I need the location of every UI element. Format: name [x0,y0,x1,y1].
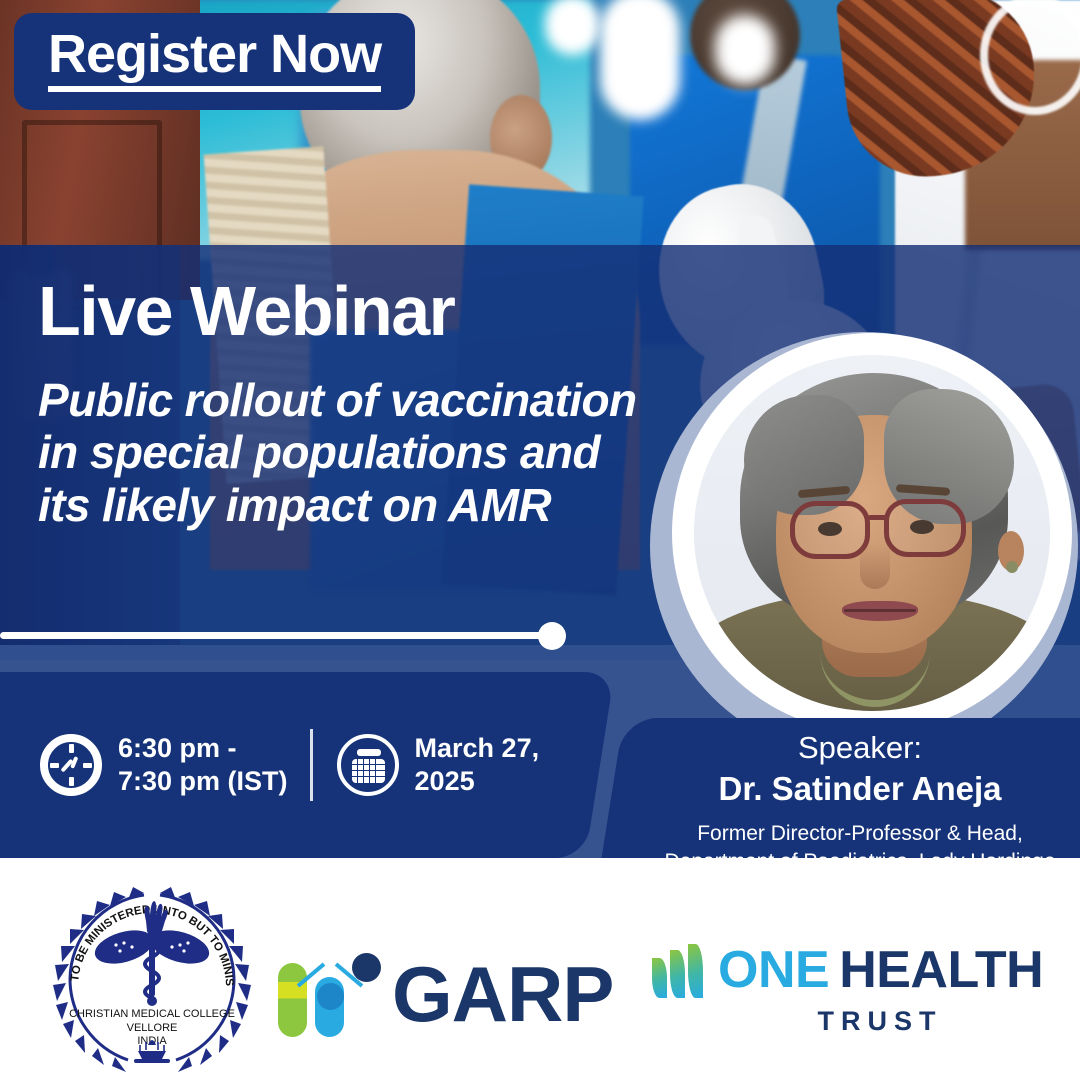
divider-rule-dot [538,622,566,650]
register-now-button[interactable]: Register Now [14,13,415,110]
webinar-kicker: Live Webinar [38,275,638,348]
speaker-name: Dr. Satinder Aneja [640,769,1080,809]
photo-highlight-b [600,0,680,120]
time-text: 6:30 pm - 7:30 pm (IST) [118,732,288,798]
garp-wordmark: GARP [392,955,613,1033]
one-health-trust-logo: ONE HEALTH TRUST [650,940,1050,1050]
date-text: March 27, 2025 [415,732,540,798]
webinar-poster: Register Now Live Webinar Public rollout… [0,0,1080,1080]
calendar-icon [337,734,399,796]
datetime-content: 6:30 pm - 7:30 pm (IST) March 27, 2025 [40,672,600,858]
cmc-line-1: CHRISTIAN MEDICAL COLLEGE [69,1008,235,1020]
oht-word-trust: TRUST [650,1006,1050,1037]
cmc-vellore-logo: NOT TO BE MINISTERED UNTO BUT TO MINISTE… [48,875,256,1075]
oht-leaf-icon [650,942,708,998]
time-item: 6:30 pm - 7:30 pm (IST) [40,732,288,798]
garp-logo: GARP [278,948,628,1040]
photo-highlight-c [715,15,775,85]
oht-word-health: HEALTH [839,940,1043,1000]
datetime-divider [310,729,313,801]
cmc-line-2: VELLORE [127,1022,178,1034]
photo-highlight-a [545,0,600,55]
clock-icon [40,734,102,796]
title-block: Live Webinar Public rollout of vaccinati… [38,275,638,531]
oht-word-one: ONE [718,940,829,1000]
divider-rule [0,632,556,639]
cmc-crest-svg: NOT TO BE MINISTERED UNTO BUT TO MINISTE… [48,875,256,1075]
speaker-portrait-photo [694,355,1050,711]
speaker-label: Speaker: [640,730,1080,767]
register-now-label: Register Now [48,27,381,92]
webinar-title: Public rollout of vaccination in special… [38,374,638,531]
garp-chart-mark [278,951,382,1037]
date-item: March 27, 2025 [337,732,540,798]
